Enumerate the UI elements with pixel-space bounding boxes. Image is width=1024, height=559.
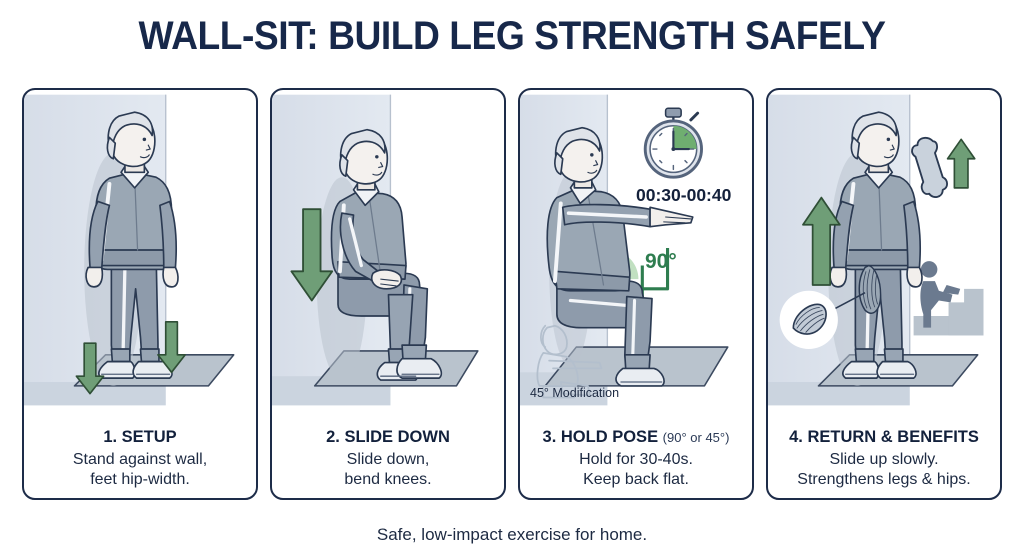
caption-heading: 2. SLIDE DOWN (272, 427, 504, 448)
caption-line-1: Hold for 30-40s. (520, 450, 752, 470)
scene-return-benefits (768, 90, 1000, 410)
caption-heading: 4. RETURN & BENEFITS (768, 427, 1000, 448)
scene-slide-down (272, 90, 504, 410)
panel-hold-pose[interactable]: 00:30-00:40 90° 45° Modification 3. HOLD… (518, 88, 754, 500)
scene-setup (24, 90, 256, 410)
caption-return-benefits: 4. RETURN & BENEFITS Slide up slowly. St… (768, 427, 1000, 490)
panel-setup[interactable]: 1. SETUP Stand against wall, feet hip-wi… (22, 88, 258, 500)
panel-return-benefits[interactable]: 4. RETURN & BENEFITS Slide up slowly. St… (766, 88, 1002, 500)
scene-hold-pose (520, 90, 752, 410)
panel-row: 1. SETUP Stand against wall, feet hip-wi… (22, 88, 1002, 500)
caption-heading: 1. SETUP (24, 427, 256, 448)
caption-line-2: bend knees. (272, 470, 504, 490)
caption-heading: 3. HOLD POSE (90° or 45°) (520, 427, 752, 448)
caption-line-1: Slide up slowly. (768, 450, 1000, 470)
caption-hold-pose: 3. HOLD POSE (90° or 45°) Hold for 30-40… (520, 427, 752, 490)
bone-up-arrow (948, 139, 975, 188)
timer-readout: 00:30-00:40 (636, 185, 731, 206)
bone-icon (912, 138, 947, 197)
caption-line-1: Stand against wall, (24, 450, 256, 470)
stair-climb-icon (914, 261, 984, 335)
caption-slide-down: 2. SLIDE DOWN Slide down, bend knees. (272, 427, 504, 490)
caption-heading-paren: (90° or 45°) (663, 430, 730, 445)
caption-heading-main: 3. HOLD POSE (543, 428, 659, 446)
footer-note: Safe, low-impact exercise for home. (0, 525, 1024, 545)
caption-setup: 1. SETUP Stand against wall, feet hip-wi… (24, 427, 256, 490)
caption-line-1: Slide down, (272, 450, 504, 470)
angle-label: 90° (645, 250, 677, 274)
caption-line-2: feet hip-width. (24, 470, 256, 490)
panel-slide-down[interactable]: 2. SLIDE DOWN Slide down, bend knees. (270, 88, 506, 500)
caption-line-2: Keep back flat. (520, 470, 752, 490)
caption-line-2: Strengthens legs & hips. (768, 470, 1000, 490)
modification-label: 45° Modification (530, 386, 619, 400)
infographic-poster: WALL-SIT: BUILD LEG STRENGTH SAFELY (0, 0, 1024, 559)
page-title: WALL-SIT: BUILD LEG STRENGTH SAFELY (36, 14, 988, 59)
stopwatch-icon (645, 108, 701, 177)
